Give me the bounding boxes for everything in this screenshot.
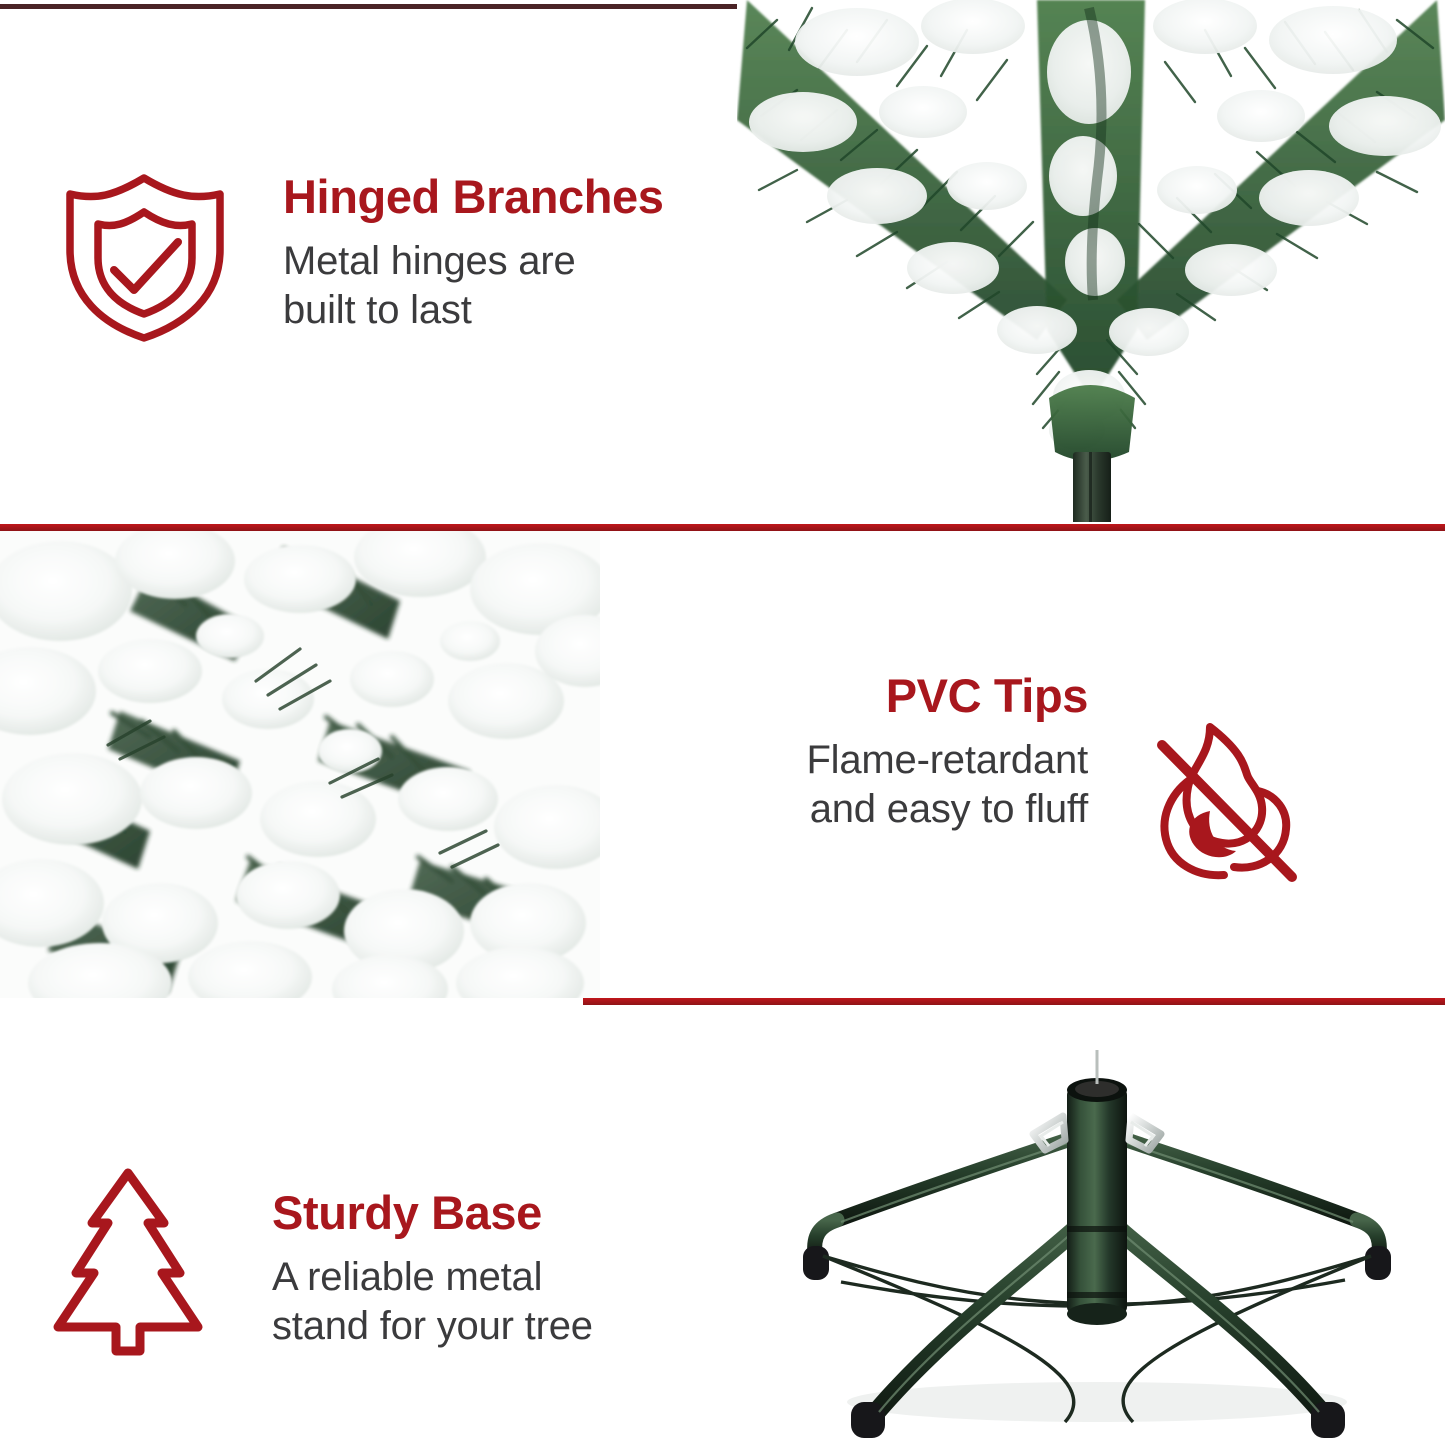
product-feature-infographic: Hinged Branches Metal hinges are built t…	[0, 0, 1445, 1439]
snow-flocked-branches-closeup-photo	[0, 531, 600, 998]
pvc-tips-text-block: PVC Tips Flame-retardant and easy to flu…	[716, 671, 1088, 834]
flocked-christmas-tree-branch-photo	[737, 0, 1445, 522]
divider-rule-2	[583, 998, 1445, 1005]
hinged-branches-text-block: Hinged Branches Metal hinges are built t…	[283, 172, 664, 335]
feature-panel-sturdy-base: Sturdy Base A reliable metal stand for y…	[0, 1005, 1445, 1439]
christmas-tree-outline-icon	[52, 1165, 204, 1360]
pvc-tips-body-line-1: Flame-retardant	[716, 736, 1088, 785]
sturdy-base-body-line-1: A reliable metal	[272, 1253, 593, 1302]
hinged-branches-body-line-2: built to last	[283, 286, 664, 335]
hinged-branches-body-line-1: Metal hinges are	[283, 237, 664, 286]
sturdy-base-body-line-2: stand for your tree	[272, 1302, 593, 1351]
pvc-tips-body: Flame-retardant and easy to fluff	[716, 736, 1088, 834]
feature-panel-hinged-branches: Hinged Branches Metal hinges are built t…	[0, 0, 1445, 524]
pvc-tips-body-line-2: and easy to fluff	[716, 785, 1088, 834]
no-flame-icon	[1148, 715, 1304, 885]
sturdy-base-body: A reliable metal stand for your tree	[272, 1253, 593, 1351]
divider-rule-1	[0, 524, 1445, 531]
pvc-tips-headline: PVC Tips	[716, 671, 1088, 720]
sturdy-base-headline: Sturdy Base	[272, 1188, 593, 1237]
feature-panel-pvc-tips: PVC Tips Flame-retardant and easy to flu…	[0, 531, 1445, 998]
metal-tree-stand-photo	[745, 1030, 1445, 1439]
shield-check-icon	[56, 166, 236, 342]
sturdy-base-text-block: Sturdy Base A reliable metal stand for y…	[272, 1188, 593, 1351]
hinged-branches-headline: Hinged Branches	[283, 172, 664, 221]
hinged-branches-body: Metal hinges are built to last	[283, 237, 664, 335]
